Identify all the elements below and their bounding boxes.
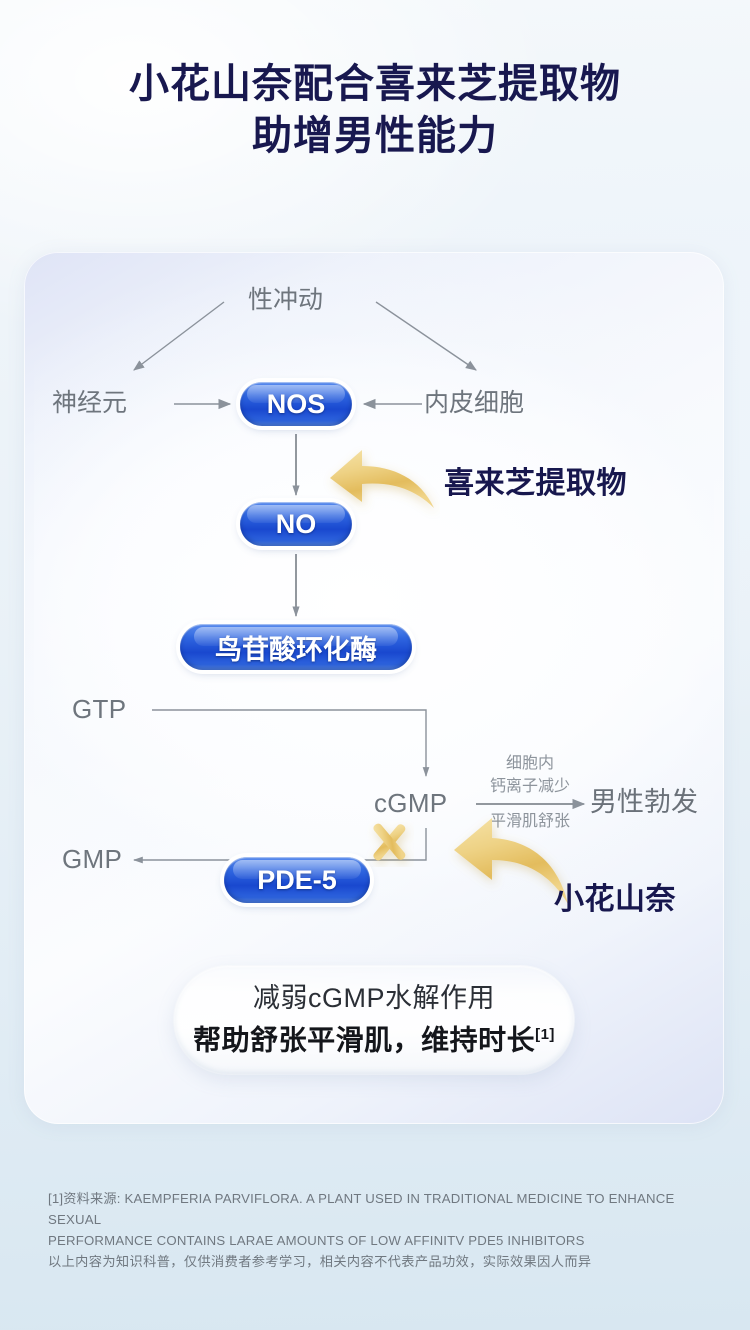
- footnote-line-1: [1]资料来源: KAEMPFERIA PARVIFLORA. A PLANT …: [48, 1188, 708, 1230]
- footnote-line-3: 以上内容为知识科普，仅供消费者参考学习，相关内容不代表产品功效，实际效果因人而异: [48, 1251, 708, 1272]
- summary-capsule: 减弱cGMP水解作用 帮助舒张平滑肌，维持时长[1]: [174, 966, 574, 1074]
- page-root: 小花山奈配合喜来芝提取物 助增男性能力: [0, 0, 750, 1330]
- node-pill-pde5-label: PDE-5: [257, 865, 337, 896]
- diagram-card: 性冲动 神经元 内皮细胞 GTP cGMP GMP 男性勃发 细胞内 钙离子减少…: [24, 252, 724, 1124]
- node-neuron: 神经元: [52, 391, 127, 416]
- page-title: 小花山奈配合喜来芝提取物 助增男性能力: [0, 58, 750, 162]
- edge-note-intracellular: 细胞内: [476, 754, 584, 774]
- node-cgmp: cGMP: [374, 790, 447, 816]
- node-pill-pde5[interactable]: PDE-5: [224, 857, 370, 903]
- edge-note-calcium: 钙离子减少: [464, 777, 596, 797]
- callout-label-xilaizhi: 喜来芝提取物: [444, 458, 627, 502]
- summary-line-1: 减弱cGMP水解作用: [253, 980, 495, 1016]
- node-pill-guanylate-cyclase[interactable]: 鸟苷酸环化酶: [180, 624, 412, 670]
- node-gtp: GTP: [72, 696, 126, 722]
- page-title-line-1: 小花山奈配合喜来芝提取物: [0, 58, 750, 110]
- node-pill-nos[interactable]: NOS: [240, 382, 352, 426]
- callout-label-xiaohuashannai: 小花山奈: [554, 874, 676, 918]
- node-endothelial: 内皮细胞: [424, 391, 524, 416]
- summary-line-2: 帮助舒张平滑肌，维持时长[1]: [193, 1016, 555, 1059]
- node-pill-nos-label: NOS: [267, 389, 326, 420]
- node-pill-no-label: NO: [276, 509, 317, 540]
- summary-reference-marker: [1]: [535, 1026, 555, 1043]
- footnote-line-2: PERFORMANCE CONTAINS LARAE AMOUNTS OF LO…: [48, 1230, 708, 1251]
- footnote: [1]资料来源: KAEMPFERIA PARVIFLORA. A PLANT …: [48, 1188, 708, 1272]
- page-title-line-2: 助增男性能力: [0, 110, 750, 162]
- node-pill-guanylate-cyclase-label: 鸟苷酸环化酶: [215, 628, 377, 667]
- summary-line-2-text: 帮助舒张平滑肌，维持时长: [193, 1025, 535, 1056]
- gold-arrow-to-nos-icon: [320, 442, 440, 522]
- blocked-x-icon: [364, 817, 414, 867]
- node-erection: 男性勃发: [590, 789, 698, 816]
- node-stimulus: 性冲动: [248, 288, 323, 313]
- node-gmp: GMP: [62, 846, 122, 872]
